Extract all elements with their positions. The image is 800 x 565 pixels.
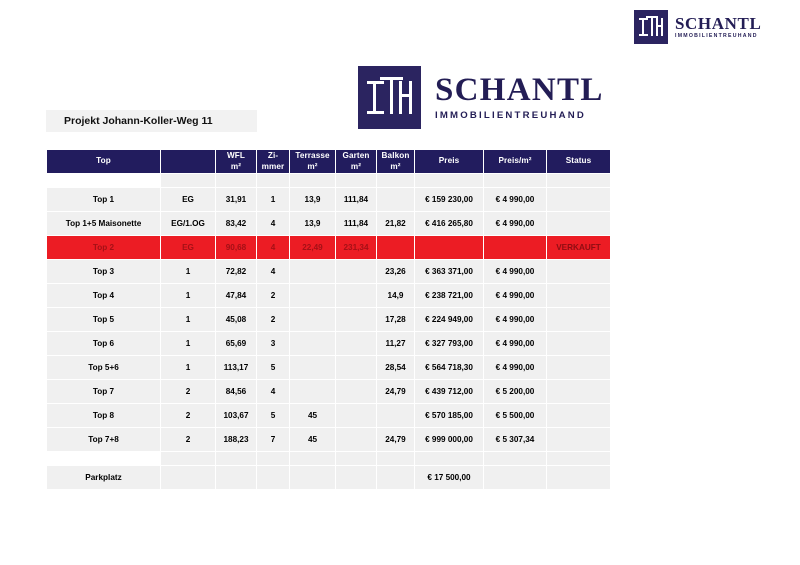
cell-balkon <box>377 188 414 211</box>
cell-preis-pro-m2 <box>484 466 546 489</box>
header-row: Top WFLm² Zi-mmer Terrassem² Gartenm² Ba… <box>47 150 610 173</box>
col-header-terrasse: Terrassem² <box>290 150 335 173</box>
cell-preis-pro-m2: € 5 200,00 <box>484 380 546 403</box>
cell-terrasse: 45 <box>290 404 335 427</box>
cell-status <box>547 380 610 403</box>
table-spacer-row <box>47 452 610 465</box>
cell-top: Top 8 <box>47 404 160 427</box>
cell-wfl: 113,17 <box>216 356 256 379</box>
cell-garten: 111,84 <box>336 188 376 211</box>
cell-top <box>47 174 160 187</box>
cell-garten <box>336 284 376 307</box>
cell-preis-pro-m2: € 4 990,00 <box>484 188 546 211</box>
cell-top: Top 2 <box>47 236 160 259</box>
cell-wfl: 84,56 <box>216 380 256 403</box>
cell-status <box>547 332 610 355</box>
cell-preis-pro-m2: € 4 990,00 <box>484 332 546 355</box>
cell-status <box>547 284 610 307</box>
table-row: Top 1EG31,91113,9111,84€ 159 230,00€ 4 9… <box>47 188 610 211</box>
cell-preis: € 17 500,00 <box>415 466 483 489</box>
col-header-garten: Gartenm² <box>336 150 376 173</box>
main-brand-tagline: IMMOBILIENTREUHAND <box>435 111 604 121</box>
cell-balkon <box>377 404 414 427</box>
cell-status <box>547 260 610 283</box>
cell-balkon: 11,27 <box>377 332 414 355</box>
cell-wfl: 31,91 <box>216 188 256 211</box>
cell-balkon <box>377 466 414 489</box>
cell-top: Top 5+6 <box>47 356 160 379</box>
header-logo: SCHANTL IMMOBILIENTREUHAND <box>634 10 761 44</box>
cell-garten <box>336 308 376 331</box>
cell-terrasse <box>290 380 335 403</box>
cell-balkon <box>377 174 414 187</box>
price-table-container: Top WFLm² Zi-mmer Terrassem² Gartenm² Ba… <box>46 149 604 490</box>
cell-terrasse <box>290 332 335 355</box>
cell-zimmer: 1 <box>257 188 289 211</box>
cell-balkon: 23,26 <box>377 260 414 283</box>
cell-balkon: 24,79 <box>377 380 414 403</box>
cell-top: Top 5 <box>47 308 160 331</box>
cell-preis-pro-m2: € 4 990,00 <box>484 356 546 379</box>
cell-status <box>547 308 610 331</box>
cell-top: Top 1+5 Maisonette <box>47 212 160 235</box>
cell-balkon: 24,79 <box>377 428 414 451</box>
cell-zimmer: 4 <box>257 260 289 283</box>
cell-preis-pro-m2 <box>484 452 546 465</box>
table-row: Top 5+61113,17528,54€ 564 718,30€ 4 990,… <box>47 356 610 379</box>
cell-preis: € 238 721,00 <box>415 284 483 307</box>
cell-garten <box>336 332 376 355</box>
cell-wfl: 72,82 <box>216 260 256 283</box>
col-header-preis: Preis <box>415 150 483 173</box>
cell-wfl <box>216 466 256 489</box>
cell-garten <box>336 380 376 403</box>
cell-balkon: 14,9 <box>377 284 414 307</box>
table-row: Top 7+82188,2374524,79€ 999 000,00€ 5 30… <box>47 428 610 451</box>
cell-status: VERKAUFT <box>547 236 610 259</box>
cell-preis-pro-m2 <box>484 236 546 259</box>
cell-wfl: 65,69 <box>216 332 256 355</box>
cell-wfl <box>216 174 256 187</box>
cell-terrasse <box>290 284 335 307</box>
table-header: Top WFLm² Zi-mmer Terrassem² Gartenm² Ba… <box>47 150 610 173</box>
cell-preis-pro-m2: € 4 990,00 <box>484 212 546 235</box>
cell-garten <box>336 404 376 427</box>
cell-garten <box>336 466 376 489</box>
cell-zimmer: 5 <box>257 356 289 379</box>
cell-terrasse: 22,49 <box>290 236 335 259</box>
cell-terrasse: 13,9 <box>290 188 335 211</box>
cell-preis <box>415 236 483 259</box>
cell-top: Top 3 <box>47 260 160 283</box>
table-row: Parkplatz€ 17 500,00 <box>47 466 610 489</box>
table-row: Top 7284,56424,79€ 439 712,00€ 5 200,00 <box>47 380 610 403</box>
cell-preis-pro-m2: € 4 990,00 <box>484 284 546 307</box>
cell-preis-pro-m2: € 4 990,00 <box>484 260 546 283</box>
cell-garten <box>336 428 376 451</box>
table-row: Top 4147,84214,9€ 238 721,00€ 4 990,00 <box>47 284 610 307</box>
cell-lage <box>161 466 215 489</box>
col-header-zimmer: Zi-mmer <box>257 150 289 173</box>
cell-lage: 1 <box>161 308 215 331</box>
cell-garten <box>336 452 376 465</box>
table-row: Top 82103,67545€ 570 185,00€ 5 500,00 <box>47 404 610 427</box>
table-spacer-row <box>47 174 610 187</box>
cell-terrasse <box>290 260 335 283</box>
cell-zimmer: 7 <box>257 428 289 451</box>
cell-preis: € 416 265,80 <box>415 212 483 235</box>
cell-lage: 2 <box>161 380 215 403</box>
cell-preis-pro-m2: € 5 500,00 <box>484 404 546 427</box>
col-header-wfl: WFLm² <box>216 150 256 173</box>
cell-balkon: 28,54 <box>377 356 414 379</box>
cell-preis: € 564 718,30 <box>415 356 483 379</box>
cell-zimmer: 4 <box>257 380 289 403</box>
cell-balkon: 17,28 <box>377 308 414 331</box>
cell-lage: 1 <box>161 260 215 283</box>
cell-zimmer: 4 <box>257 212 289 235</box>
cell-status <box>547 174 610 187</box>
brand-name: SCHANTL <box>675 15 761 32</box>
cell-terrasse: 45 <box>290 428 335 451</box>
main-brand-name: SCHANTL <box>435 74 604 107</box>
cell-balkon <box>377 236 414 259</box>
cell-lage: 1 <box>161 356 215 379</box>
col-header-balkon: Balkonm² <box>377 150 414 173</box>
cell-top: Top 7+8 <box>47 428 160 451</box>
cell-balkon: 21,82 <box>377 212 414 235</box>
cell-lage <box>161 174 215 187</box>
cell-status <box>547 404 610 427</box>
cell-terrasse: 13,9 <box>290 212 335 235</box>
table-row: Top 6165,69311,27€ 327 793,00€ 4 990,00 <box>47 332 610 355</box>
cell-preis: € 999 000,00 <box>415 428 483 451</box>
table-row: Top 2EG90,68422,49231,34VERKAUFT <box>47 236 610 259</box>
cell-lage <box>161 452 215 465</box>
cell-terrasse <box>290 174 335 187</box>
col-header-lage <box>161 150 215 173</box>
cell-zimmer: 3 <box>257 332 289 355</box>
ith-monogram-icon <box>634 10 668 44</box>
cell-zimmer <box>257 174 289 187</box>
cell-preis: € 570 185,00 <box>415 404 483 427</box>
cell-preis: € 439 712,00 <box>415 380 483 403</box>
project-title: Projekt Johann-Koller-Weg 11 <box>46 110 257 132</box>
cell-terrasse <box>290 466 335 489</box>
cell-balkon <box>377 452 414 465</box>
cell-terrasse <box>290 308 335 331</box>
cell-terrasse <box>290 452 335 465</box>
cell-lage: EG <box>161 236 215 259</box>
cell-preis: € 327 793,00 <box>415 332 483 355</box>
cell-zimmer <box>257 466 289 489</box>
cell-status <box>547 356 610 379</box>
cell-terrasse <box>290 356 335 379</box>
cell-status <box>547 452 610 465</box>
cell-preis-pro-m2: € 4 990,00 <box>484 308 546 331</box>
cell-garten <box>336 260 376 283</box>
cell-status <box>547 212 610 235</box>
ith-monogram-large-icon <box>358 66 421 129</box>
cell-wfl: 188,23 <box>216 428 256 451</box>
cell-lage: EG/1.OG <box>161 212 215 235</box>
cell-top: Top 4 <box>47 284 160 307</box>
col-header-status: Status <box>547 150 610 173</box>
cell-zimmer: 2 <box>257 284 289 307</box>
cell-garten: 231,34 <box>336 236 376 259</box>
cell-status <box>547 188 610 211</box>
cell-wfl: 83,42 <box>216 212 256 235</box>
table-body: Top 1EG31,91113,9111,84€ 159 230,00€ 4 9… <box>47 174 610 489</box>
cell-top: Top 6 <box>47 332 160 355</box>
cell-wfl: 47,84 <box>216 284 256 307</box>
cell-wfl <box>216 452 256 465</box>
cell-garten: 111,84 <box>336 212 376 235</box>
cell-preis: € 159 230,00 <box>415 188 483 211</box>
price-table: Top WFLm² Zi-mmer Terrassem² Gartenm² Ba… <box>46 149 611 490</box>
cell-preis <box>415 452 483 465</box>
brand-tagline: IMMOBILIENTREUHAND <box>675 34 761 39</box>
main-logo: SCHANTL IMMOBILIENTREUHAND <box>358 66 604 129</box>
table-row: Top 3172,82423,26€ 363 371,00€ 4 990,00 <box>47 260 610 283</box>
col-header-top: Top <box>47 150 160 173</box>
cell-top <box>47 452 160 465</box>
cell-lage: 2 <box>161 428 215 451</box>
cell-preis-pro-m2: € 5 307,34 <box>484 428 546 451</box>
cell-preis-pro-m2 <box>484 174 546 187</box>
table-row: Top 5145,08217,28€ 224 949,00€ 4 990,00 <box>47 308 610 331</box>
cell-preis: € 363 371,00 <box>415 260 483 283</box>
cell-zimmer <box>257 452 289 465</box>
cell-lage: 1 <box>161 284 215 307</box>
cell-top: Top 7 <box>47 380 160 403</box>
cell-wfl: 45,08 <box>216 308 256 331</box>
cell-lage: 1 <box>161 332 215 355</box>
cell-preis: € 224 949,00 <box>415 308 483 331</box>
cell-status <box>547 428 610 451</box>
cell-status <box>547 466 610 489</box>
cell-wfl: 90,68 <box>216 236 256 259</box>
cell-zimmer: 5 <box>257 404 289 427</box>
cell-top: Parkplatz <box>47 466 160 489</box>
cell-zimmer: 4 <box>257 236 289 259</box>
cell-preis <box>415 174 483 187</box>
cell-garten <box>336 174 376 187</box>
col-header-preis-pro-m2: Preis/m² <box>484 150 546 173</box>
cell-lage: EG <box>161 188 215 211</box>
cell-garten <box>336 356 376 379</box>
cell-wfl: 103,67 <box>216 404 256 427</box>
table-row: Top 1+5 MaisonetteEG/1.OG83,42413,9111,8… <box>47 212 610 235</box>
cell-top: Top 1 <box>47 188 160 211</box>
cell-lage: 2 <box>161 404 215 427</box>
cell-zimmer: 2 <box>257 308 289 331</box>
